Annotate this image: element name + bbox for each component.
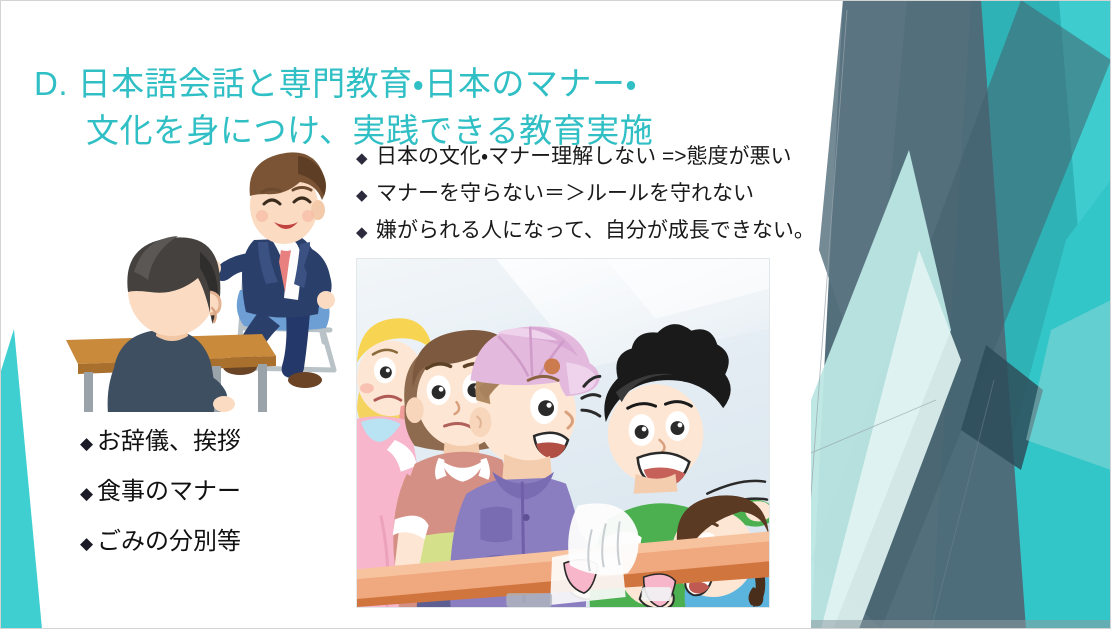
list-item: ◆ 日本の文化・マナー理解しない =>態度が悪い [356, 146, 876, 167]
diamond-bullet-icon: ◆ [356, 225, 376, 240]
queue-cutting-illustration [356, 258, 770, 608]
list-item-label: ごみの分別等 [97, 530, 241, 554]
bullet-list-manners: ◆ お辞儀、挨拶 ◆ 食事のマナー ◆ ごみの分別等 [80, 430, 360, 580]
list-item: ◆ マナーを守らない＝＞ルールを守れない [356, 183, 876, 204]
list-item-label: 食事のマナー [97, 480, 241, 504]
bullet-list-main: ◆ 日本の文化・マナー理解しない =>態度が悪い ◆ マナーを守らない＝＞ルール… [356, 146, 876, 257]
list-item-label: マナーを守らない＝＞ルールを守れない [376, 183, 754, 204]
diamond-bullet-icon: ◆ [80, 435, 97, 452]
list-item-label: お辞儀、挨拶 [97, 430, 241, 454]
list-item: ◆ 食事のマナー [80, 480, 360, 504]
slide-canvas: D. 日本語会話と専門教育・日本のマナー・ 文化を身につけ、実践できる教育実施 [0, 0, 1111, 629]
diamond-bullet-icon: ◆ [356, 151, 376, 166]
list-item: ◆ お辞儀、挨拶 [80, 430, 360, 454]
list-item: ◆ 嫌がられる人になって、自分が成長できない。 [356, 220, 876, 241]
diamond-bullet-icon: ◆ [80, 485, 97, 502]
decorative-geometry-right [811, 0, 1111, 629]
diamond-bullet-icon: ◆ [80, 535, 97, 552]
list-item-label: 嫌がられる人になって、自分が成長できない。 [376, 220, 815, 241]
list-item-label: 日本の文化・マナー理解しない =>態度が悪い [376, 146, 792, 167]
diamond-bullet-icon: ◆ [356, 188, 376, 203]
title-line-1: D. 日本語会話と専門教育・日本のマナー・ [34, 65, 637, 102]
list-item: ◆ ごみの分別等 [80, 530, 360, 554]
